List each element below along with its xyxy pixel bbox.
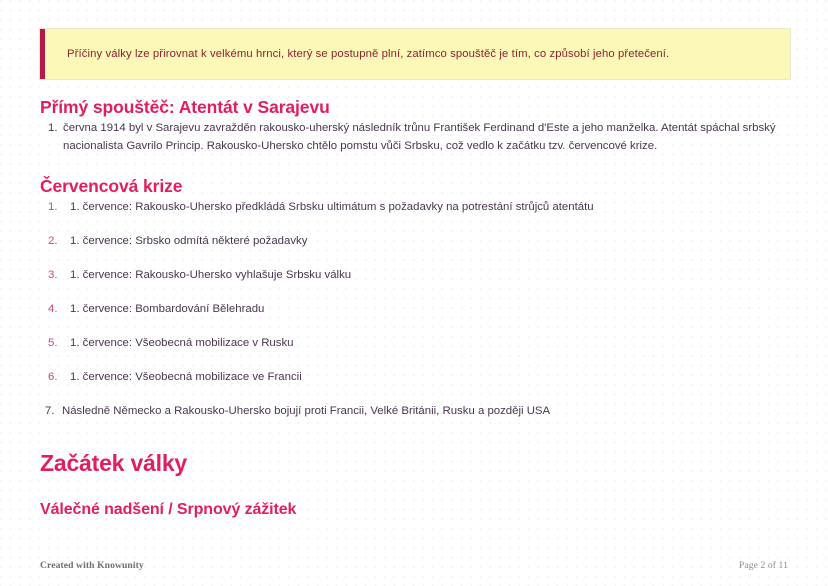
list-item: 4. 1. července: Bombardování Bělehradu <box>40 300 790 318</box>
document-content: Příčiny války lze přirovnat k velkému hr… <box>40 29 790 520</box>
list-july-crisis: 1. 1. července: Rakousko-Uhersko předklá… <box>40 198 790 386</box>
list-item-marker: 7. <box>45 402 55 420</box>
list-item: 6. 1. července: Všeobecná mobilizace ve … <box>40 368 790 386</box>
list-item: 5. 1. července: Všeobecná mobilizace v R… <box>40 334 790 352</box>
section-heading-direct-trigger: Přímý spouštěč: Atentát v Sarajevu <box>40 97 790 119</box>
list-item-marker: 3. <box>48 266 58 284</box>
list-item: 7. Následně Německo a Rakousko-Uhersko b… <box>40 402 790 420</box>
list-item-marker: 5. <box>48 334 58 352</box>
list-item: 1. 1. července: Rakousko-Uhersko předklá… <box>40 198 790 216</box>
list-item-marker: 2. <box>48 232 58 250</box>
page-footer: Created with Knowunity Page 2 of 11 <box>0 556 828 574</box>
callout-note: Příčiny války lze přirovnat k velkému hr… <box>40 29 790 79</box>
section-heading-start-of-war: Začátek války <box>40 450 790 478</box>
list-item-marker: 4. <box>48 300 58 318</box>
section-heading-war-enthusiasm: Válečné nadšení / Srpnový zážitek <box>40 500 790 520</box>
list-item-text: 1. července: Rakousko-Uhersko předkládá … <box>70 201 594 213</box>
list-item-text: 1. července: Bombardování Bělehradu <box>70 303 264 315</box>
list-item: 2. 1. července: Srbsko odmítá některé po… <box>40 232 790 250</box>
list-item: 1. června 1914 byl v Sarajevu zavražděn … <box>40 119 790 156</box>
list-item-marker: 1. <box>48 119 58 137</box>
list-item: 3. 1. července: Rakousko-Uhersko vyhlašu… <box>40 266 790 284</box>
list-item-text: 1. července: Rakousko-Uhersko vyhlašuje … <box>70 269 351 281</box>
footer-brand-label: Created with Knowunity <box>40 560 144 571</box>
callout-note-text: Příčiny války lze přirovnat k velkému hr… <box>67 46 669 63</box>
list-july-crisis-continued: 7. Následně Německo a Rakousko-Uhersko b… <box>40 402 790 420</box>
list-item-text: 1. července: Srbsko odmítá některé požad… <box>70 235 307 247</box>
list-item-text: 1. července: Všeobecná mobilizace ve Fra… <box>70 371 302 383</box>
list-item-text: Následně Německo a Rakousko-Uhersko boju… <box>62 405 550 417</box>
list-item-text: 1. července: Všeobecná mobilizace v Rusk… <box>70 337 294 349</box>
list-item-text: června 1914 byl v Sarajevu zavražděn rak… <box>63 122 776 152</box>
document-page: Příčiny války lze přirovnat k velkému hr… <box>0 0 828 586</box>
section-heading-july-crisis: Červencová krize <box>40 176 790 198</box>
list-direct-trigger: 1. června 1914 byl v Sarajevu zavražděn … <box>40 119 790 156</box>
list-item-marker: 6. <box>48 368 58 386</box>
footer-page-number: Page 2 of 11 <box>739 560 788 571</box>
list-item-marker: 1. <box>48 198 58 216</box>
